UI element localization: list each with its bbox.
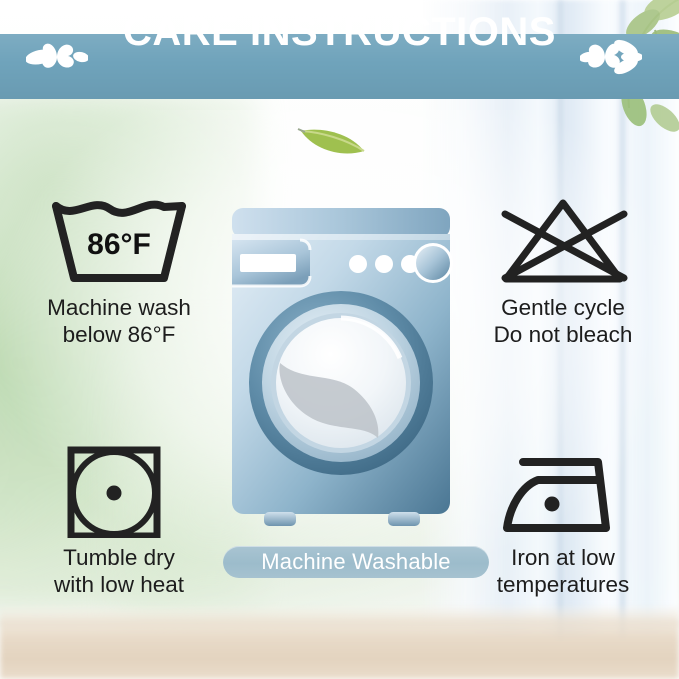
machine-top-lid [232, 208, 450, 238]
green-leaf-icon [296, 118, 370, 158]
machine-washable-badge-label: Machine Washable [261, 549, 450, 575]
machine-washable-badge: Machine Washable [223, 546, 489, 578]
wash-temperature-value: 86°F [87, 228, 151, 261]
care-symbol-label-machine-wash: Machine wash below 86°F [8, 294, 230, 348]
care-symbol-machine-wash: 86°F Machine wash below 86°F [8, 196, 230, 348]
page-title: CARE INSTRUCTIONS [0, 0, 679, 65]
program-dial [416, 246, 450, 280]
machine-foot-right [388, 512, 420, 526]
triangle-crossed-out-icon [488, 196, 638, 288]
do-not-bleach-art [452, 196, 674, 288]
front-load-washing-machine-illustration [228, 206, 454, 536]
wash-tub-art: 86°F [8, 196, 230, 288]
machine-foot-left [264, 512, 296, 526]
indicator-light-1 [349, 255, 367, 273]
care-symbol-do-not-bleach: Gentle cycle Do not bleach [452, 196, 674, 348]
wooden-table-surface [0, 607, 679, 679]
care-symbol-label-do-not-bleach: Gentle cycle Do not bleach [452, 294, 674, 348]
tumble-dry-square-circle-one-dot-icon [44, 446, 194, 538]
iron-art [452, 446, 674, 538]
care-symbol-iron: Iron at low temperatures [452, 446, 674, 598]
iron-one-dot-icon [488, 446, 638, 538]
care-symbol-label-tumble-dry: Tumble dry with low heat [8, 544, 230, 598]
detergent-drawer-slot [240, 254, 296, 272]
indicator-light-2 [375, 255, 393, 273]
tumble-dry-art [8, 446, 230, 538]
wash-tub-icon: 86°F [44, 196, 194, 288]
care-instructions-infographic: CARE INSTRUCTIONS 86°F Machine wash belo… [0, 0, 679, 679]
care-symbol-tumble-dry: Tumble dry with low heat [8, 446, 230, 598]
machine-panel-highlight [232, 234, 450, 240]
